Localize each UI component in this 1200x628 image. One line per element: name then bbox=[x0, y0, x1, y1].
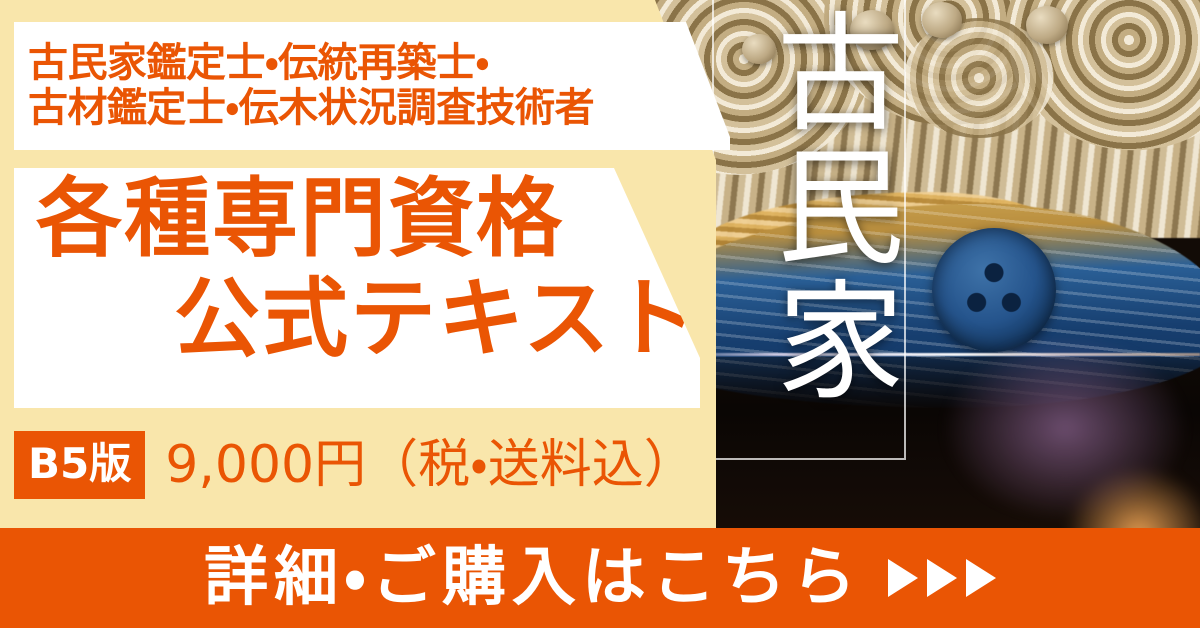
cta-arrows-group bbox=[888, 559, 996, 597]
cover-title-text: 古民家 bbox=[716, 6, 896, 408]
headline-line-1: 各種専門資格 bbox=[36, 176, 564, 262]
headline-line-2: 公式テキスト bbox=[174, 276, 699, 362]
certifications-line-1: 古民家鑑定士・伝統再築士・ bbox=[28, 41, 730, 86]
cta-button-bar[interactable]: 詳細・ご購入はこちら bbox=[0, 528, 1200, 628]
wood-knob-detail bbox=[1026, 6, 1068, 44]
promotional-banner: 古民家 伝統構法、古民家活用のための調査と再生の 古民家鑑定士・伝統再築士・ 古… bbox=[0, 0, 1200, 628]
certifications-card: 古民家鑑定士・伝統再築士・ 古材鑑定士・伝木状況調査技術者 bbox=[14, 22, 730, 150]
cta-label: 詳細・ご購入はこちら bbox=[204, 546, 862, 610]
certifications-line-2: 古材鑑定士・伝木状況調査技術者 bbox=[28, 86, 730, 131]
wood-knob-detail bbox=[922, 2, 962, 38]
headline-card: 各種専門資格 公式テキスト bbox=[14, 168, 700, 408]
book-cover-image: 古民家 伝統構法、古民家活用のための調査と再生の bbox=[654, 0, 1200, 566]
play-arrow-icon bbox=[966, 559, 996, 597]
price-row: B5版 9,000円（税・送料込） bbox=[14, 430, 696, 500]
price-amount: 9,000円（税・送料込） bbox=[165, 439, 696, 491]
format-badge: B5版 bbox=[14, 431, 145, 499]
play-arrow-icon bbox=[888, 559, 918, 597]
play-arrow-icon bbox=[927, 559, 957, 597]
